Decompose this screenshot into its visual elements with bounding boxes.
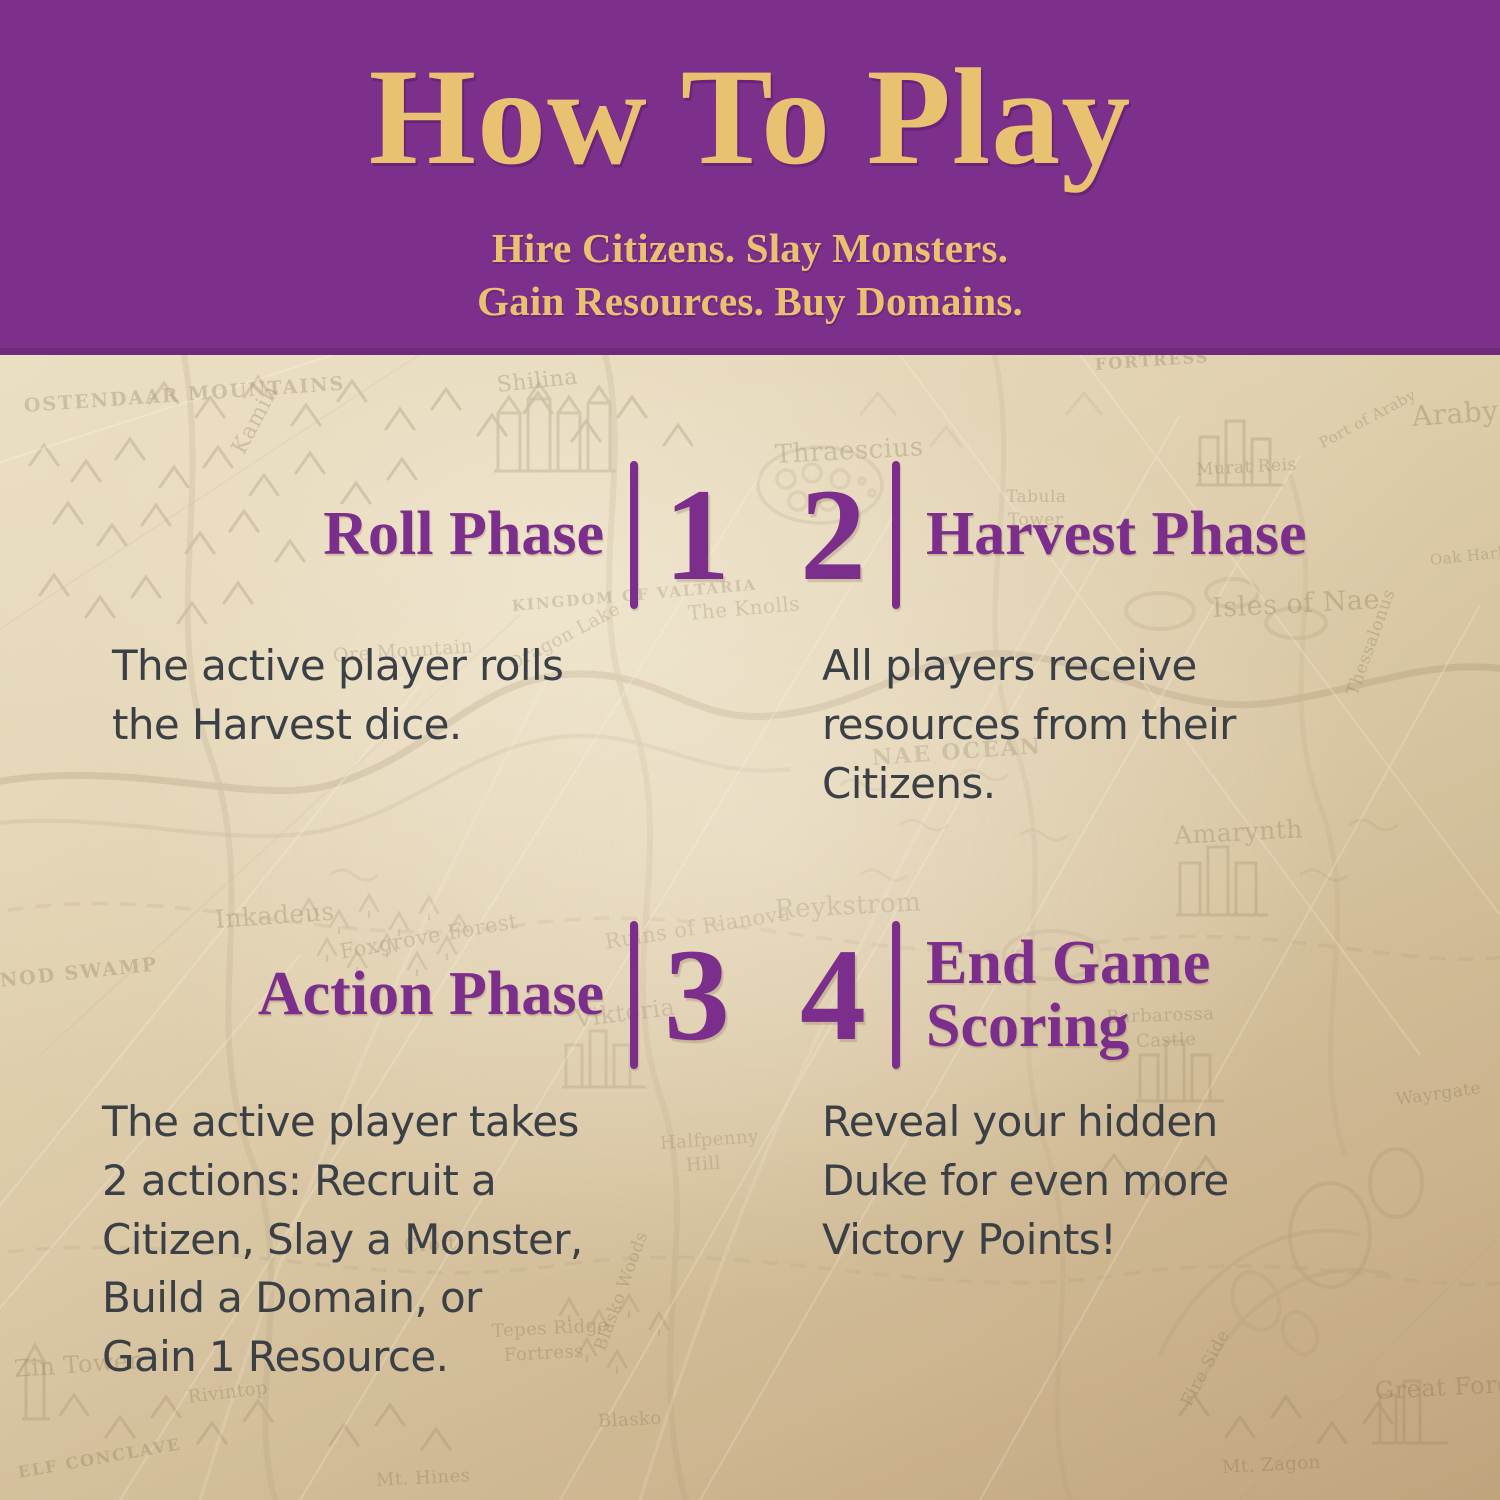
- page-subtitle: Hire Citizens. Slay Monsters. Gain Resou…: [0, 222, 1500, 329]
- phase-3-body-line-5: Gain 1 Resource.: [102, 1328, 730, 1387]
- phase-4-body-line-2: Duke for even more: [822, 1152, 1440, 1211]
- phase-3-divider: [630, 921, 638, 1069]
- phase-3-body-line-2: 2 actions: Recruit a: [102, 1152, 730, 1211]
- phase-2-body-line-2: resources from their: [822, 696, 1440, 755]
- phase-block-3: Action Phase 3 The active player takes 2…: [80, 915, 730, 1387]
- phase-2-heading: 2 Harvest Phase: [800, 455, 1440, 615]
- phase-4-body-line-1: Reveal your hidden: [822, 1093, 1440, 1152]
- phase-block-1: Roll Phase 1 The active player rolls the…: [90, 455, 730, 755]
- phase-1-body: The active player rolls the Harvest dice…: [112, 637, 730, 755]
- phase-3-number: 3: [664, 929, 730, 1061]
- header-bottom-stripe: [0, 348, 1500, 355]
- phase-3-body: The active player takes 2 actions: Recru…: [102, 1093, 730, 1387]
- phase-4-number: 4: [800, 929, 866, 1061]
- phase-block-2: 2 Harvest Phase All players receive reso…: [800, 455, 1440, 813]
- phase-4-body-line-3: Victory Points!: [822, 1211, 1440, 1270]
- phase-4-name-line-2: Scoring: [926, 995, 1210, 1058]
- phase-3-name: Action Phase: [258, 963, 604, 1026]
- phase-2-number: 2: [800, 469, 866, 601]
- page-header: How To Play Hire Citizens. Slay Monsters…: [0, 0, 1500, 355]
- phase-1-body-line-1: The active player rolls: [112, 637, 730, 696]
- phase-3-body-line-1: The active player takes: [102, 1093, 730, 1152]
- page-title: How To Play: [0, 48, 1500, 186]
- phase-block-4: 4 End Game Scoring Reveal your hidden Du…: [800, 915, 1440, 1269]
- subtitle-line-2: Gain Resources. Buy Domains.: [0, 275, 1500, 328]
- phase-1-heading: Roll Phase 1: [90, 455, 730, 615]
- phase-1-divider: [630, 461, 638, 609]
- phase-2-divider: [892, 461, 900, 609]
- phase-3-body-line-3: Citizen, Slay a Monster,: [102, 1211, 730, 1270]
- phase-1-name: Roll Phase: [323, 503, 604, 566]
- phase-3-heading: Action Phase 3: [80, 915, 730, 1075]
- phase-3-body-line-4: Build a Domain, or: [102, 1269, 730, 1328]
- phase-2-body-line-3: Citizens.: [822, 755, 1440, 814]
- phase-grid: Roll Phase 1 The active player rolls the…: [0, 355, 1500, 1500]
- phase-1-body-line-2: the Harvest dice.: [112, 696, 730, 755]
- phase-4-name: End Game Scoring: [926, 932, 1210, 1058]
- phase-2-name: Harvest Phase: [926, 503, 1307, 566]
- phase-4-divider: [892, 921, 900, 1069]
- phase-4-body: Reveal your hidden Duke for even more Vi…: [822, 1093, 1440, 1269]
- subtitle-line-1: Hire Citizens. Slay Monsters.: [0, 222, 1500, 275]
- phase-4-heading: 4 End Game Scoring: [800, 915, 1440, 1075]
- how-to-play-infographic: How To Play Hire Citizens. Slay Monsters…: [0, 0, 1500, 1500]
- phase-2-body: All players receive resources from their…: [822, 637, 1440, 813]
- phase-2-body-line-1: All players receive: [822, 637, 1440, 696]
- phase-1-number: 1: [664, 469, 730, 601]
- phase-4-name-line-1: End Game: [926, 932, 1210, 995]
